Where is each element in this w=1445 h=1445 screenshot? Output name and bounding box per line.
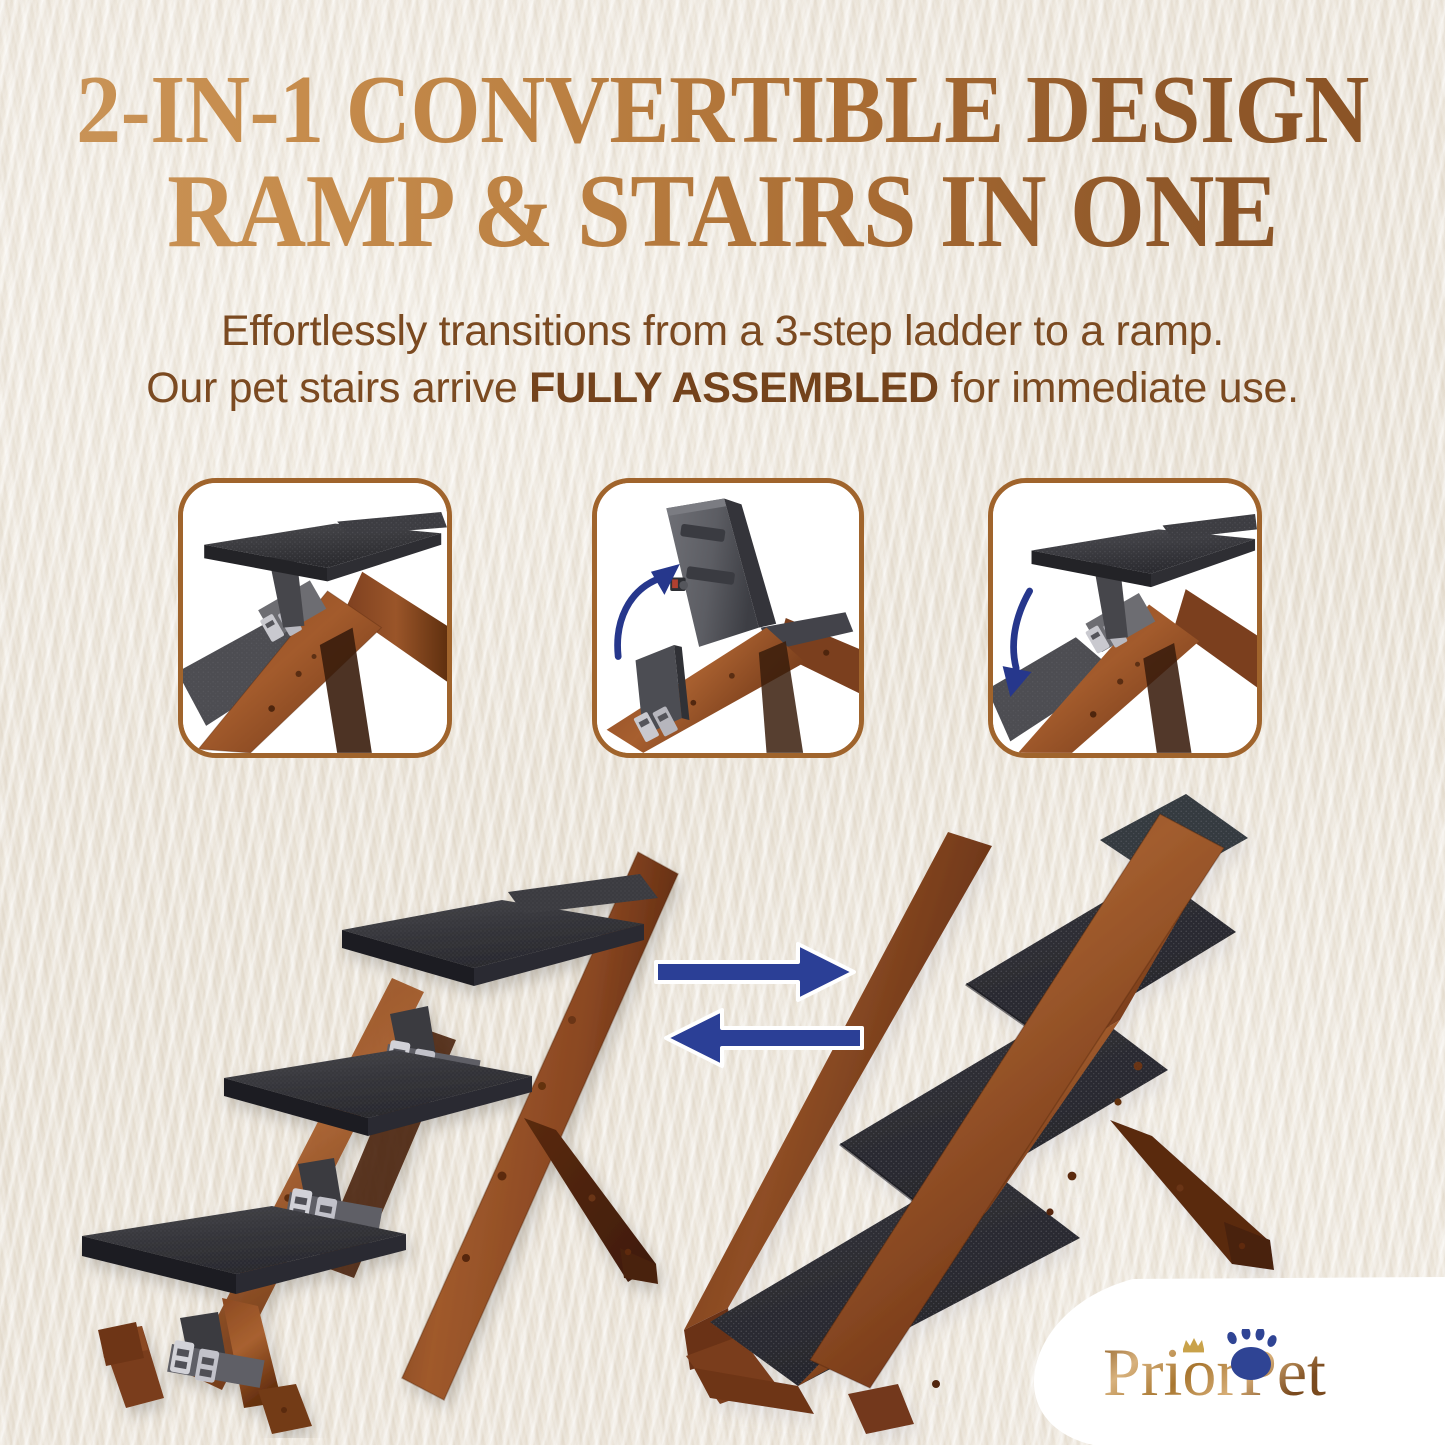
product-photo-pet-stairs [72,778,732,1438]
subtitle-emphasis-fully-assembled: FULLY ASSEMBLED [529,364,939,412]
subtitle-line-2-after: for immediate use. [939,364,1299,412]
transition-arrows [648,930,878,1080]
inset-panel-folding-step [592,478,864,758]
logo-brand-text: PriorPet [1103,1334,1326,1410]
subtitle-block: Effortlessly transitions from a 3-step l… [0,303,1445,417]
lowering-step-illustration [993,483,1257,753]
flat-step-illustration [183,483,447,753]
headline-line-1: 2-IN-1 CONVERTIBLE DESIGN [58,62,1387,158]
convert-arrows-svg [648,930,878,1080]
ramp-to-stairs-left-arrow [666,1010,862,1066]
inset-panel-lowering-step [988,478,1262,758]
subtitle-line-1: Effortlessly transitions from a 3-step l… [0,303,1445,360]
subtitle-line-2-before: Our pet stairs arrive [146,364,529,412]
logo-wordmark: PriorPet [1103,1329,1433,1415]
headline-block: 2-IN-1 CONVERTIBLE DESIGN RAMP & STAIRS … [0,62,1445,263]
subtitle-line-2: Our pet stairs arrive FULLY ASSEMBLED fo… [0,360,1445,417]
inset-panel-flat-step [178,478,452,758]
headline-line-2: RAMP & STAIRS IN ONE [58,160,1387,263]
stairs-to-ramp-right-arrow [656,944,854,1000]
pet-stairs-illustration [72,778,732,1438]
folding-step-illustration [597,483,859,753]
brand-logo: PriorPet [1015,1277,1445,1445]
